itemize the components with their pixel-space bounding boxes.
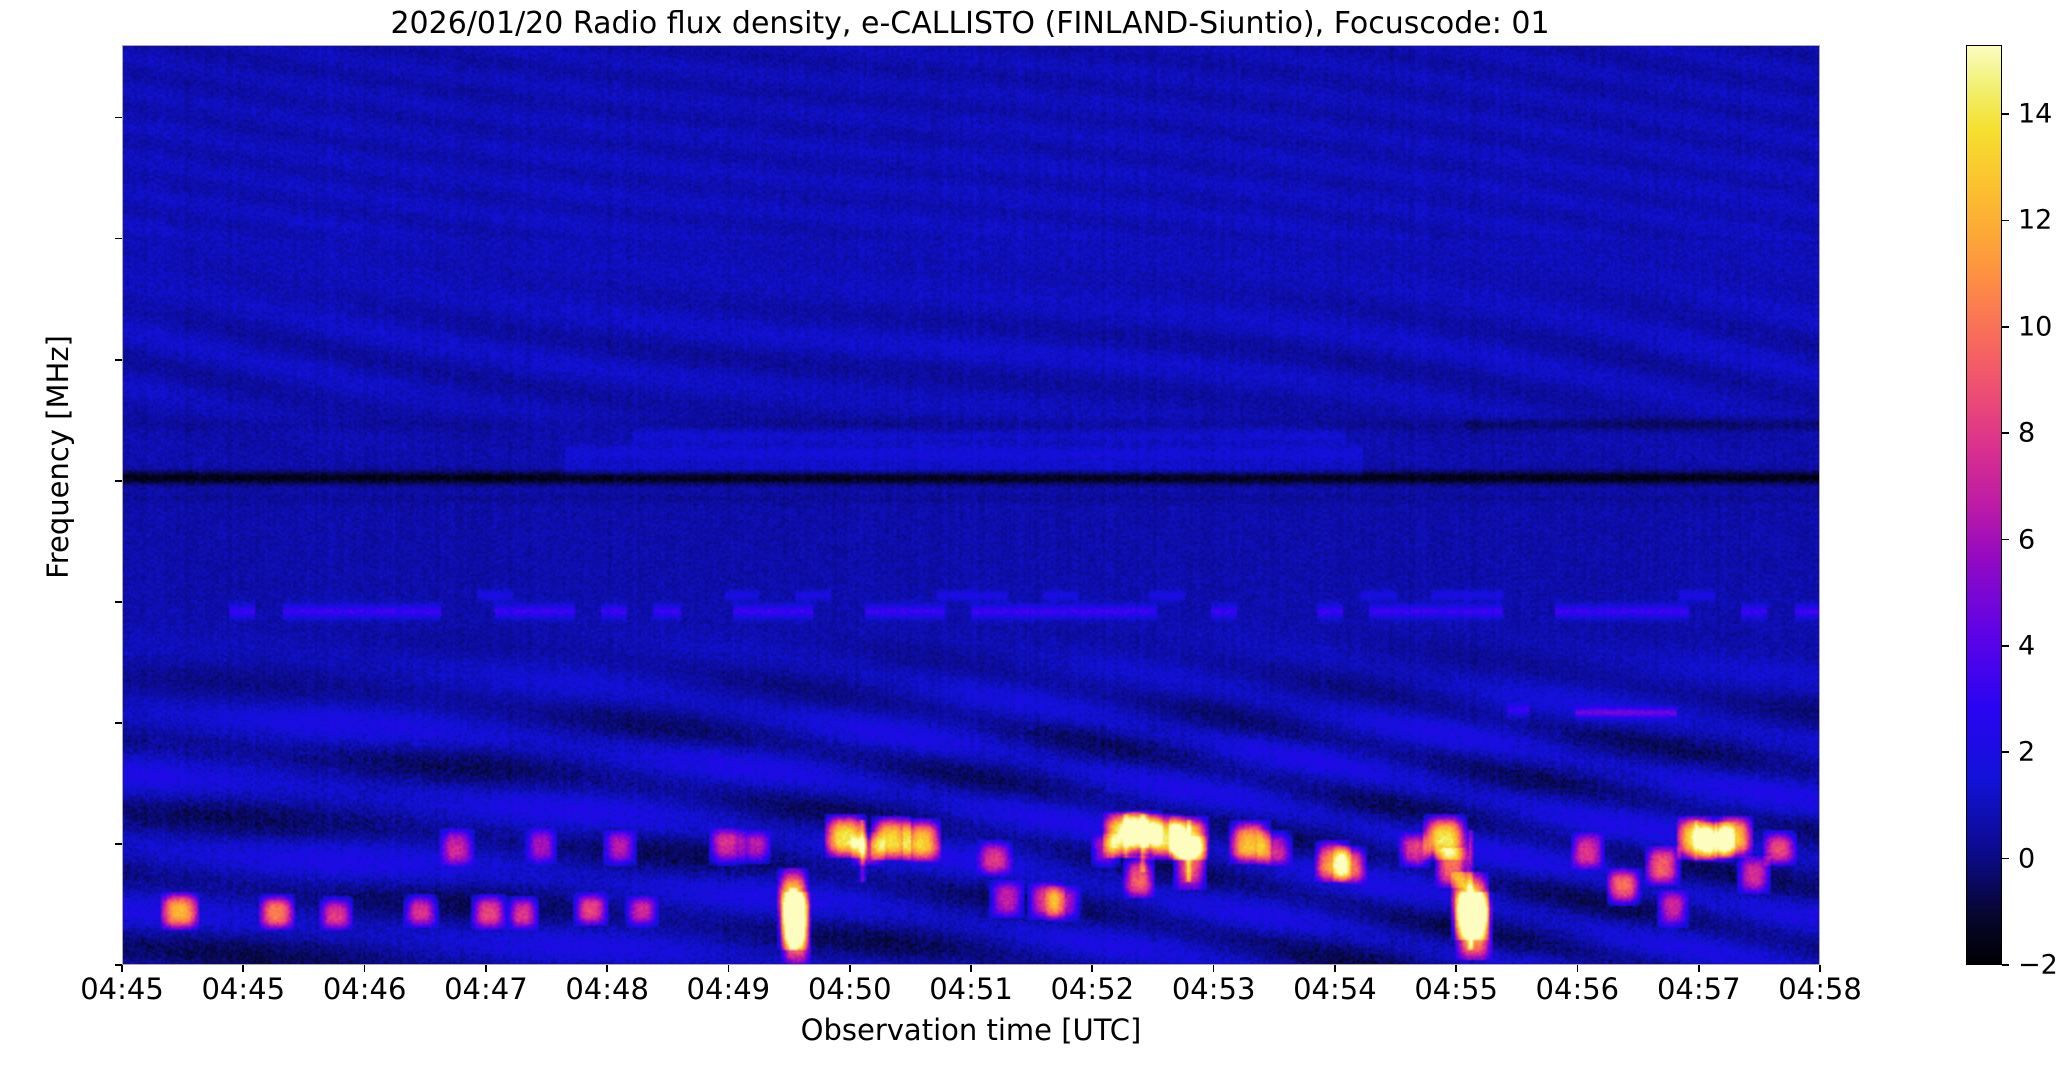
colorbar-tick-label: 8 xyxy=(2018,418,2035,449)
x-tick-label: 04:50 xyxy=(808,972,892,1006)
colorbar-tick-label: 12 xyxy=(2018,205,2052,236)
colorbar-tick-mark xyxy=(2002,645,2009,647)
x-tick-label: 04:48 xyxy=(565,972,649,1006)
colorbar-tick-label: 10 xyxy=(2018,311,2052,342)
x-tick-mark xyxy=(1213,965,1215,972)
x-tick-label: 04:45 xyxy=(201,972,285,1006)
x-tick-mark xyxy=(970,965,972,972)
x-tick-mark xyxy=(1577,965,1579,972)
x-tick-mark xyxy=(121,965,123,972)
colorbar-tick-mark xyxy=(2002,326,2009,328)
colorbar-tick-mark xyxy=(2002,539,2009,541)
x-tick-label: 04:56 xyxy=(1536,972,1620,1006)
x-tick-mark xyxy=(606,965,608,972)
colorbar-tick-label: 2 xyxy=(2018,737,2035,768)
spectrogram-figure: 2026/01/20 Radio flux density, e-CALLIST… xyxy=(0,0,2066,1067)
y-tick-mark xyxy=(115,601,122,603)
page-title: 2026/01/20 Radio flux density, e-CALLIST… xyxy=(0,6,1940,41)
x-tick-label: 04:52 xyxy=(1050,972,1134,1006)
y-tick-mark xyxy=(115,359,122,361)
x-tick-mark xyxy=(364,965,366,972)
colorbar-tick-mark xyxy=(2002,751,2009,753)
y-tick-mark xyxy=(115,117,122,119)
x-tick-label: 04:57 xyxy=(1657,972,1741,1006)
y-tick-mark xyxy=(115,843,122,845)
colorbar-tick-mark xyxy=(2002,964,2009,966)
colorbar[interactable] xyxy=(1966,45,2002,965)
colorbar-tick-label: 0 xyxy=(2018,843,2035,874)
colorbar-tick-label: −2 xyxy=(2018,950,2058,981)
y-tick-mark xyxy=(115,722,122,724)
colorbar-tick-mark xyxy=(2002,220,2009,222)
x-tick-label: 04:47 xyxy=(444,972,528,1006)
x-tick-mark xyxy=(1091,965,1093,972)
x-axis-label: Observation time [UTC] xyxy=(122,1013,1820,1047)
colorbar-tick-mark xyxy=(2002,113,2009,115)
x-tick-label: 04:45 xyxy=(80,972,164,1006)
x-tick-label: 04:54 xyxy=(1293,972,1377,1006)
x-tick-label: 04:55 xyxy=(1414,972,1498,1006)
x-tick-mark xyxy=(1819,965,1821,972)
x-tick-label: 04:53 xyxy=(1172,972,1256,1006)
x-tick-mark xyxy=(1698,965,1700,972)
x-tick-label: 04:46 xyxy=(323,972,407,1006)
colorbar-tick-label: 4 xyxy=(2018,630,2035,661)
x-tick-mark xyxy=(242,965,244,972)
x-tick-mark xyxy=(1455,965,1457,972)
x-tick-mark xyxy=(849,965,851,972)
colorbar-tick-label: 14 xyxy=(2018,99,2052,130)
x-tick-mark xyxy=(1334,965,1336,972)
colorbar-gradient xyxy=(1967,46,2001,964)
y-tick-mark xyxy=(115,480,122,482)
spectrogram-plot-area[interactable] xyxy=(122,45,1820,965)
x-tick-mark xyxy=(485,965,487,972)
colorbar-tick-label: 6 xyxy=(2018,524,2035,555)
x-tick-mark xyxy=(728,965,730,972)
colorbar-tick-mark xyxy=(2002,432,2009,434)
x-tick-label: 04:58 xyxy=(1778,972,1862,1006)
x-tick-label: 04:49 xyxy=(687,972,771,1006)
y-axis-label: Frequency [MHz] xyxy=(41,137,75,777)
y-tick-mark xyxy=(115,238,122,240)
x-tick-label: 04:51 xyxy=(929,972,1013,1006)
spectrogram-image xyxy=(123,46,1820,965)
colorbar-tick-mark xyxy=(2002,858,2009,860)
